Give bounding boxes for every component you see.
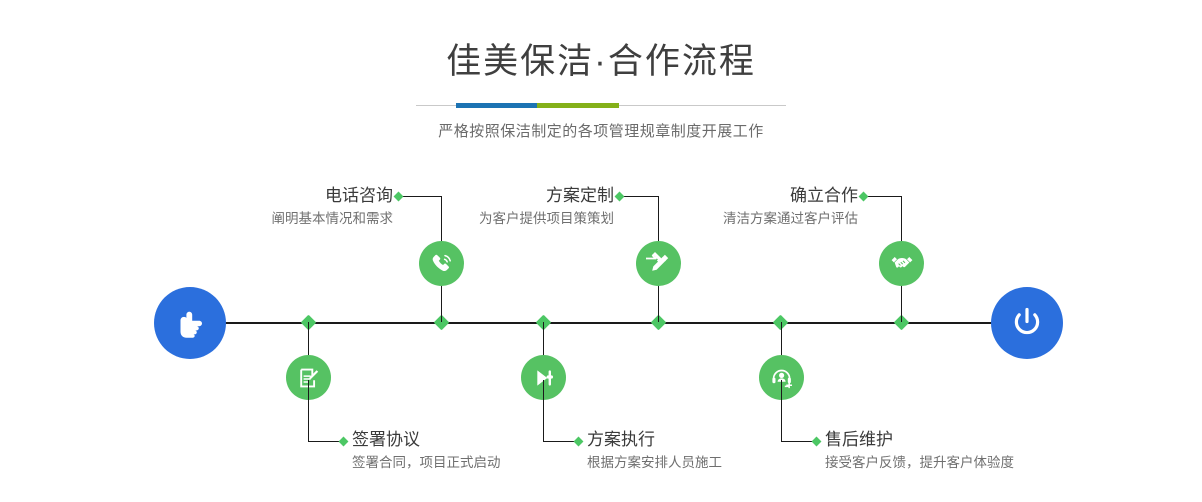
- step-title-phone-consult: 电话咨询: [150, 186, 393, 206]
- step-label-after-sales: 售后维护 接受客户反馈，提升客户体验度: [825, 430, 1085, 472]
- divider-green-segment: [537, 103, 619, 108]
- power-icon: [1006, 302, 1048, 344]
- step-desc-plan-custom: 为客户提供项目策策划: [380, 210, 614, 228]
- flow-start-endcap: [154, 287, 226, 359]
- pencil-ruler-icon: [646, 251, 672, 277]
- step-title-plan-execute: 方案执行: [587, 430, 847, 450]
- step-desc-phone-consult: 阐明基本情况和需求: [150, 210, 393, 228]
- divider-blue-segment: [456, 103, 537, 108]
- step-label-confirm-cooperation: 确立合作 清洁方案通过客户评估: [620, 186, 858, 228]
- label-connector-tip-sign-agreement: [339, 437, 349, 447]
- label-connector-tip-confirm-cooperation: [859, 192, 869, 202]
- step-desc-confirm-cooperation: 清洁方案通过客户评估: [620, 210, 858, 228]
- label-connector-v-after-sales: [781, 380, 782, 441]
- step-node-confirm-cooperation[interactable]: [879, 241, 924, 286]
- flow-diagram-page: 佳美保洁·合作流程 严格按照保洁制定的各项管理规章制度开展工作: [0, 0, 1202, 502]
- step-desc-after-sales: 接受客户反馈，提升客户体验度: [825, 454, 1085, 472]
- pointing-hand-icon: [170, 303, 210, 343]
- step-label-phone-consult: 电话咨询 阐明基本情况和需求: [150, 186, 393, 228]
- step-label-plan-execute: 方案执行 根据方案安排人员施工: [587, 430, 847, 472]
- flow-end-endcap: [991, 287, 1063, 359]
- step-desc-sign-agreement: 签署合同，项目正式启动: [352, 454, 612, 472]
- phone-call-icon: [429, 251, 455, 277]
- page-title: 佳美保洁·合作流程: [0, 44, 1202, 79]
- label-connector-v-plan-execute: [543, 380, 544, 441]
- step-node-plan-custom[interactable]: [636, 241, 681, 286]
- step-title-sign-agreement: 签署协议: [352, 430, 612, 450]
- label-connector-v-sign-agreement: [308, 380, 309, 441]
- page-header: 佳美保洁·合作流程 严格按照保洁制定的各项管理规章制度开展工作: [0, 0, 1202, 141]
- step-label-sign-agreement: 签署协议 签署合同，项目正式启动: [352, 430, 612, 472]
- handshake-icon: [889, 251, 915, 277]
- label-connector-v-confirm-cooperation: [901, 196, 902, 241]
- step-title-plan-custom: 方案定制: [380, 186, 614, 206]
- step-title-confirm-cooperation: 确立合作: [620, 186, 858, 206]
- page-subtitle: 严格按照保洁制定的各项管理规章制度开展工作: [0, 120, 1202, 141]
- step-desc-plan-execute: 根据方案安排人员施工: [587, 454, 847, 472]
- title-divider: [416, 101, 786, 111]
- step-label-plan-custom: 方案定制 为客户提供项目策策划: [380, 186, 614, 228]
- step-node-phone-consult[interactable]: [419, 241, 464, 286]
- step-title-after-sales: 售后维护: [825, 430, 1085, 450]
